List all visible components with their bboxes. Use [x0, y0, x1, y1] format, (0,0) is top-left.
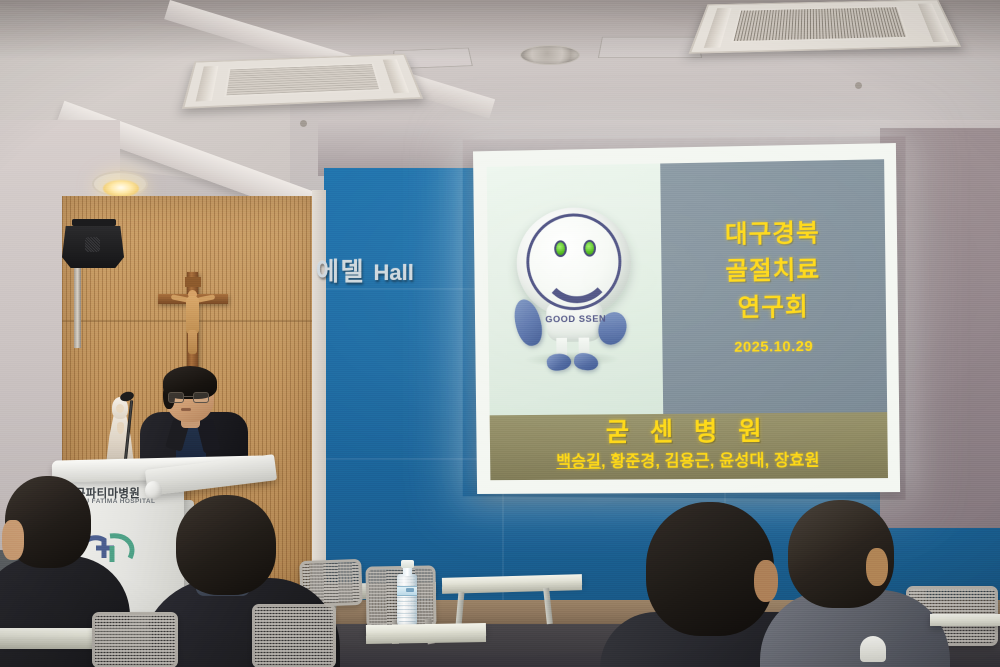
- ceiling-fixture-nub-right: [855, 82, 862, 89]
- presenter-glasses-icon: [168, 392, 212, 403]
- audience-4-ear: [866, 548, 888, 586]
- glasses-lens-left: [168, 392, 184, 403]
- table-front-right: [930, 614, 1000, 626]
- ac-louver-right: [382, 59, 409, 93]
- speaker-bracket: [72, 219, 116, 226]
- crucifix-titulus: [185, 277, 201, 287]
- statue-face: [116, 404, 124, 413]
- good-ssen-mascot-icon: GOOD SSEN: [505, 202, 645, 376]
- ac-louver-left: [195, 66, 218, 102]
- ac-grill: [225, 63, 382, 96]
- ac-louver-left: [704, 8, 731, 47]
- crucifix-corpus-legs: [188, 330, 197, 354]
- air-conditioner-cassette-left: [182, 54, 423, 109]
- slide-date: 2025.10.29: [734, 338, 813, 356]
- audience-1-ear: [2, 520, 24, 560]
- projection-screen: GOOD SSEN 대구경북 골절치료 연구회 2025.10.29 굳 센 병…: [473, 143, 900, 494]
- speaker-support-pole: [74, 268, 81, 348]
- ac-grill: [732, 6, 909, 43]
- mascot-shadow: [524, 351, 621, 368]
- hall-sign-korean: 에델: [316, 258, 365, 286]
- slide-author-rest: , 황준경, 김용근, 윤성대, 장효원: [601, 452, 820, 471]
- presenter-mouth: [181, 408, 191, 411]
- chair-front-middle: [252, 604, 336, 667]
- ceiling-access-panel-right: [598, 37, 702, 58]
- mascot-smile: [541, 255, 613, 303]
- slide-hospital-name: 굳 센 병 원: [495, 417, 881, 447]
- audience-2-head: [176, 495, 276, 595]
- mascot-eye-left: [554, 240, 567, 257]
- slide-author-lead: 백승길: [556, 453, 601, 471]
- slide-title-line-3: 연구회: [738, 296, 809, 322]
- conference-room-photo: 에델 Hall: [0, 0, 1000, 667]
- water-bottle-label-mark: [406, 588, 414, 592]
- mascot-brand-text: GOOD SSEN: [537, 313, 615, 325]
- slide-author-list: 백승길, 황준경, 김용근, 윤성대, 장효원: [496, 446, 882, 472]
- statue-praying-hands: [117, 422, 124, 434]
- audience-4-cup[interactable]: [860, 636, 886, 662]
- speaker-cone-icon: [85, 237, 100, 252]
- glasses-lens-right: [193, 392, 209, 403]
- ceiling-fixture-nub-left: [300, 120, 307, 127]
- slide-footer-band: 굳 센 병 원 백승길, 황준경, 김용근, 윤성대, 장효원: [490, 412, 888, 480]
- ceiling-vent-right: [520, 45, 580, 65]
- water-bottle-ribs: [397, 596, 417, 622]
- slide-mascot-panel: GOOD SSEN: [487, 164, 663, 416]
- hall-sign-english: Hall: [373, 260, 413, 285]
- air-conditioner-cassette-right: [689, 0, 962, 54]
- edel-hall-sign: 에델 Hall: [316, 252, 414, 288]
- mascot-eye-right: [584, 240, 597, 257]
- slide-title-panel: 대구경북 골절치료 연구회 2025.10.29: [660, 159, 887, 413]
- audience-3-ear: [754, 560, 778, 602]
- slide-upper-region: GOOD SSEN 대구경북 골절치료 연구회 2025.10.29: [487, 159, 888, 415]
- crucifix-corpus-body: [186, 296, 199, 334]
- slide-content: GOOD SSEN 대구경북 골절치료 연구회 2025.10.29 굳 센 병…: [487, 159, 888, 480]
- downlight-icon: [103, 180, 139, 197]
- water-bottle-cap[interactable]: [401, 560, 414, 568]
- slide-title-line-1: 대구경북: [725, 222, 820, 248]
- glasses-bridge: [184, 396, 193, 397]
- slide-title-line-2: 골절치료: [725, 258, 820, 284]
- chair-front-left: [92, 612, 178, 667]
